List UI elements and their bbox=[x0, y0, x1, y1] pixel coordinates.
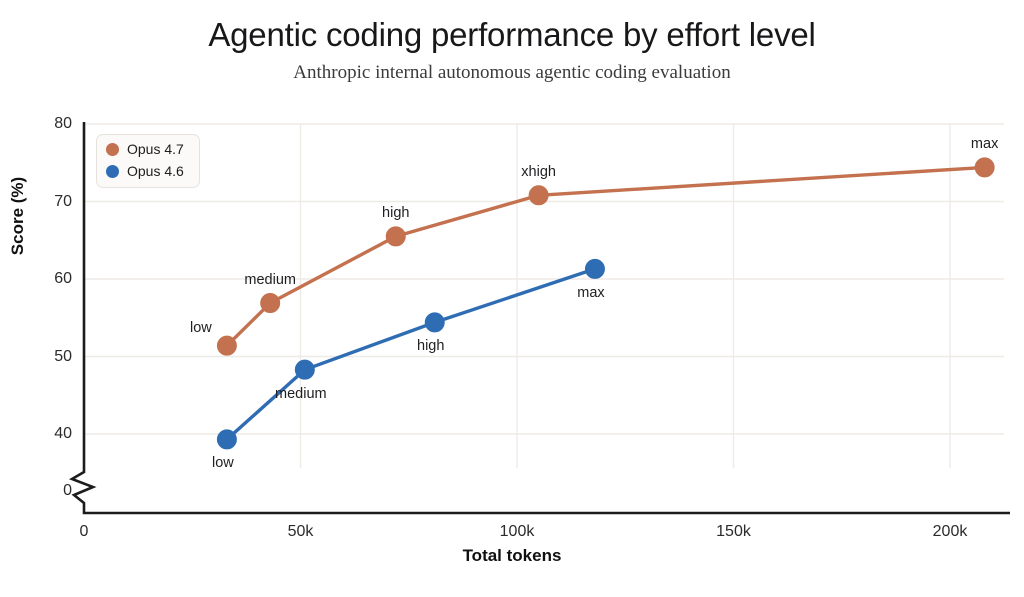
legend: Opus 4.7 Opus 4.6 bbox=[96, 134, 200, 188]
y-axis-ticks: 40506070800 bbox=[0, 0, 72, 597]
x-tick-label: 0 bbox=[80, 523, 89, 541]
point-label: high bbox=[417, 338, 444, 354]
x-tick-label: 50k bbox=[288, 523, 314, 541]
data-point[interactable] bbox=[217, 336, 236, 355]
data-point[interactable] bbox=[295, 360, 314, 379]
legend-item-1[interactable]: Opus 4.6 bbox=[106, 163, 184, 179]
y-tick-label: 70 bbox=[54, 193, 72, 211]
point-label: max bbox=[971, 136, 998, 152]
legend-label: Opus 4.7 bbox=[127, 141, 184, 157]
y-tick-label: 60 bbox=[54, 270, 72, 288]
point-label: max bbox=[577, 285, 604, 301]
point-label: medium bbox=[244, 272, 296, 288]
point-label: medium bbox=[275, 386, 327, 402]
y-axis-title: Score (%) bbox=[8, 156, 28, 276]
legend-label: Opus 4.6 bbox=[127, 163, 184, 179]
point-label: high bbox=[382, 205, 409, 221]
y-axis-break-zero-label: 0 bbox=[63, 482, 72, 500]
legend-swatch-icon bbox=[106, 165, 119, 178]
x-tick-label: 200k bbox=[933, 523, 968, 541]
y-tick-label: 40 bbox=[54, 425, 72, 443]
plot-area bbox=[0, 0, 1024, 597]
data-point[interactable] bbox=[425, 313, 444, 332]
data-point[interactable] bbox=[261, 294, 280, 313]
chart-figure: Agentic coding performance by effort lev… bbox=[0, 0, 1024, 597]
legend-item-0[interactable]: Opus 4.7 bbox=[106, 141, 184, 157]
x-axis-title: Total tokens bbox=[0, 546, 1024, 566]
series-line-0 bbox=[227, 167, 985, 345]
point-label: low bbox=[190, 320, 212, 336]
series-line-1 bbox=[227, 269, 595, 440]
data-point[interactable] bbox=[217, 430, 236, 449]
x-tick-label: 150k bbox=[716, 523, 751, 541]
x-tick-label: 100k bbox=[500, 523, 535, 541]
point-label: xhigh bbox=[521, 164, 556, 180]
data-point[interactable] bbox=[585, 259, 604, 278]
data-point[interactable] bbox=[386, 227, 405, 246]
point-label: low bbox=[212, 455, 234, 471]
legend-swatch-icon bbox=[106, 143, 119, 156]
data-point[interactable] bbox=[975, 158, 994, 177]
data-point[interactable] bbox=[529, 186, 548, 205]
y-tick-label: 50 bbox=[54, 348, 72, 366]
y-tick-label: 80 bbox=[54, 115, 72, 133]
